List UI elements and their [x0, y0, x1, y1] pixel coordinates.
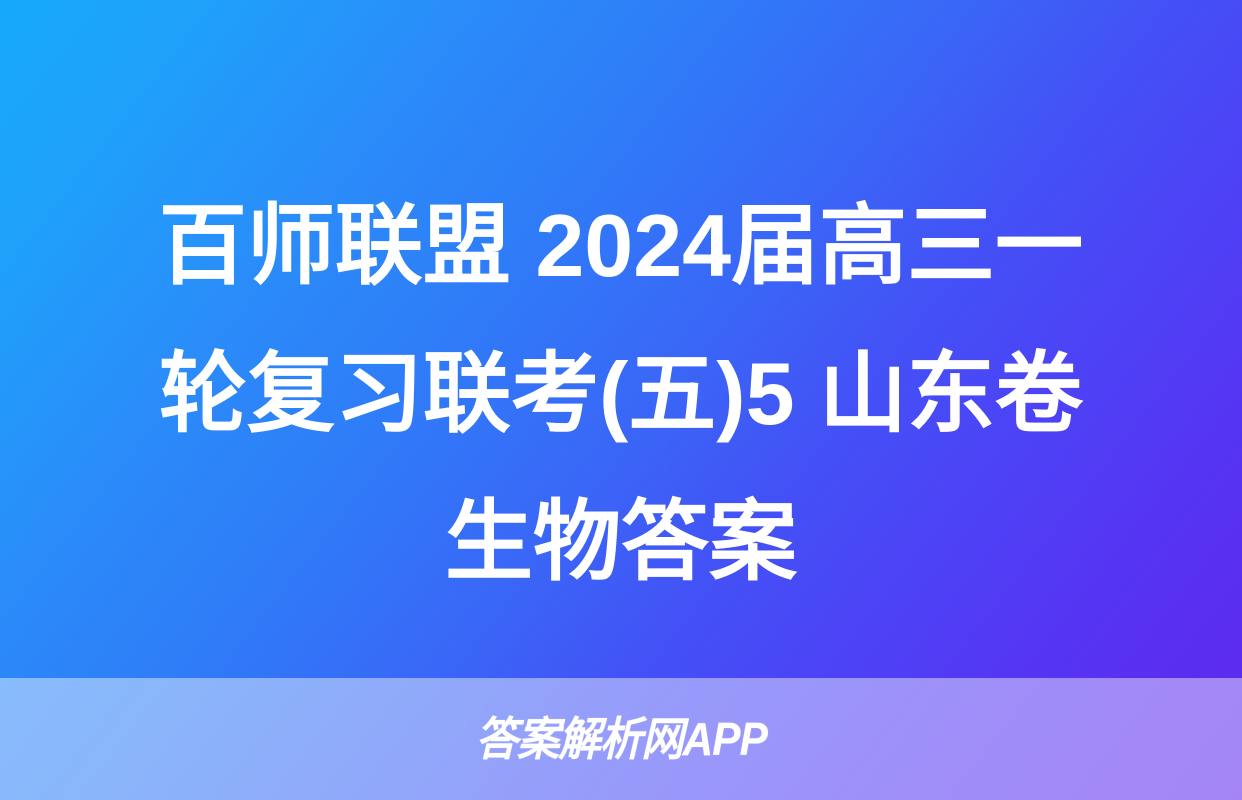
- page-title-line-1: 百师联盟 2024届高三一: [58, 172, 1184, 320]
- page-title: 百师联盟 2024届高三一 轮复习联考(五)5 山东卷 生物答案: [0, 172, 1242, 616]
- watermark-band: 答案解析网APP: [0, 678, 1242, 800]
- page-title-line-2: 轮复习联考(五)5 山东卷: [58, 320, 1184, 468]
- poster-canvas: 百师联盟 2024届高三一 轮复习联考(五)5 山东卷 生物答案 答案解析网AP…: [0, 0, 1242, 800]
- watermark-label: 答案解析网APP: [475, 716, 766, 762]
- page-title-line-3: 生物答案: [58, 468, 1184, 616]
